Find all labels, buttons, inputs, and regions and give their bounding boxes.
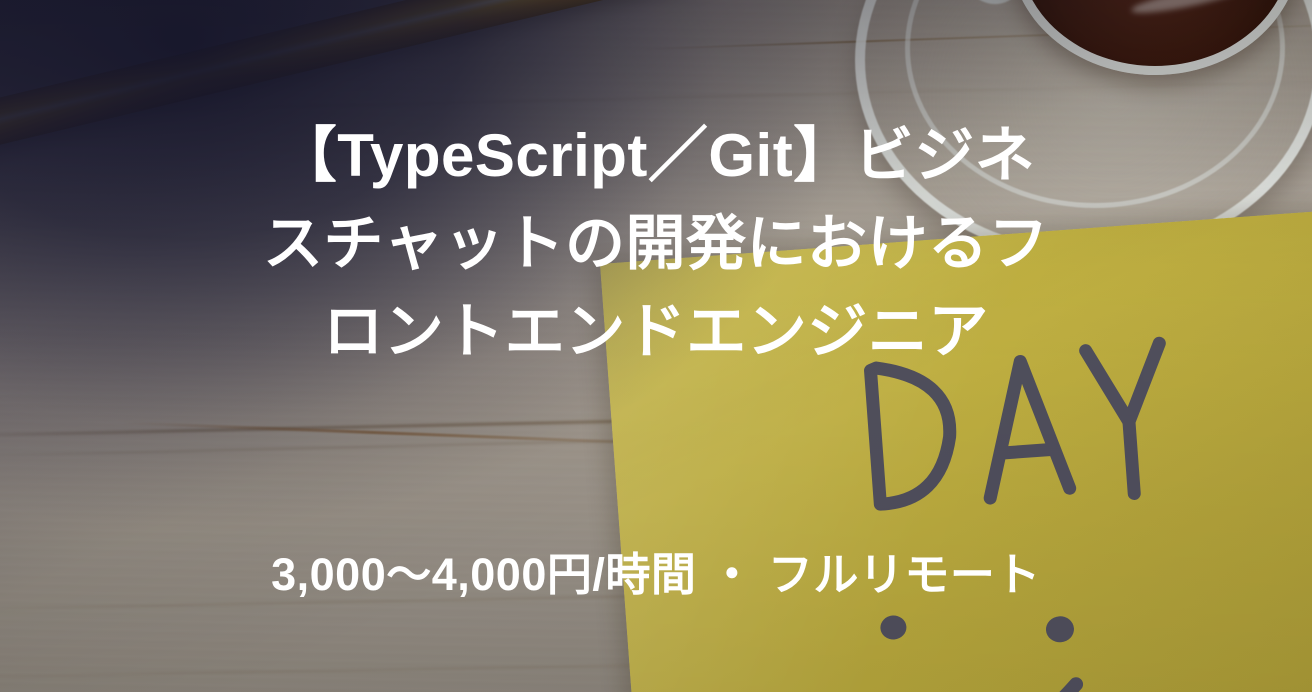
job-conditions-subtitle: 3,000〜4,000円/時間 ・ フルリモート (0, 545, 1312, 605)
job-posting-hero-card: 【TypeScript／Git】ビジネスチャットの開発におけるフロントエンドエン… (0, 0, 1312, 692)
job-title: 【TypeScript／Git】ビジネスチャットの開発におけるフロントエンドエン… (261, 112, 1051, 376)
card-text-content: 【TypeScript／Git】ビジネスチャットの開発におけるフロントエンドエン… (0, 0, 1312, 692)
